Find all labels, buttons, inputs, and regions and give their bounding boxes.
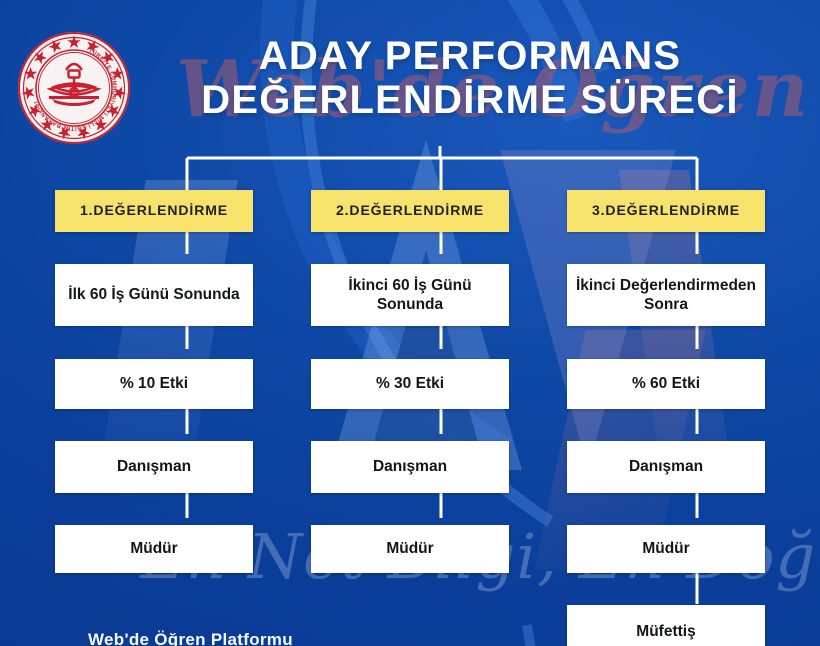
- page-title: ADAY PERFORMANS DEĞERLENDİRME SÜRECİ: [140, 34, 800, 122]
- timing-cell-3[interactable]: İkinci Değerlendirmeden Sonra: [567, 264, 765, 326]
- evaluation-column-1: 1.DEĞERLENDİRME İlk 60 İş Günü Sonunda %…: [55, 190, 253, 646]
- evaluator-cell-3-3[interactable]: Müfettiş: [567, 605, 765, 646]
- column-header-3[interactable]: 3.DEĞERLENDİRME: [567, 190, 765, 232]
- title-line-1: ADAY PERFORMANS: [259, 34, 682, 78]
- evaluator-cell-3-2[interactable]: Müdür: [567, 525, 765, 573]
- evaluation-column-3: 3.DEĞERLENDİRME İkinci Değerlendirmeden …: [567, 190, 765, 646]
- poster-canvas: Web'de Öğren En Net Bilgi, En Doğrusu: [0, 0, 820, 646]
- meb-logo: TÜRKİYE CUMHURİYETİ MİLLİ EĞİTİM BAKANLI…: [16, 30, 132, 146]
- footer-text: Web'de Öğren Platformu: [88, 630, 293, 646]
- weight-cell-3[interactable]: % 60 Etki: [567, 359, 765, 409]
- title-line-2: DEĞERLENDİRME SÜRECİ: [140, 78, 800, 122]
- evaluator-cell-2-2[interactable]: Müdür: [311, 525, 509, 573]
- evaluation-grid: 1.DEĞERLENDİRME İlk 60 İş Günü Sonunda %…: [0, 190, 820, 646]
- weight-cell-2[interactable]: % 30 Etki: [311, 359, 509, 409]
- timing-cell-1[interactable]: İlk 60 İş Günü Sonunda: [55, 264, 253, 326]
- evaluation-column-2: 2.DEĞERLENDİRME İkinci 60 İş Günü Sonund…: [311, 190, 509, 646]
- evaluator-cell-2-1[interactable]: Danışman: [311, 441, 509, 493]
- evaluator-cell-3-1[interactable]: Danışman: [567, 441, 765, 493]
- column-header-2[interactable]: 2.DEĞERLENDİRME: [311, 190, 509, 232]
- column-header-1[interactable]: 1.DEĞERLENDİRME: [55, 190, 253, 232]
- timing-cell-2[interactable]: İkinci 60 İş Günü Sonunda: [311, 264, 509, 326]
- weight-cell-1[interactable]: % 10 Etki: [55, 359, 253, 409]
- evaluator-cell-1-2[interactable]: Müdür: [55, 525, 253, 573]
- evaluator-cell-1-1[interactable]: Danışman: [55, 441, 253, 493]
